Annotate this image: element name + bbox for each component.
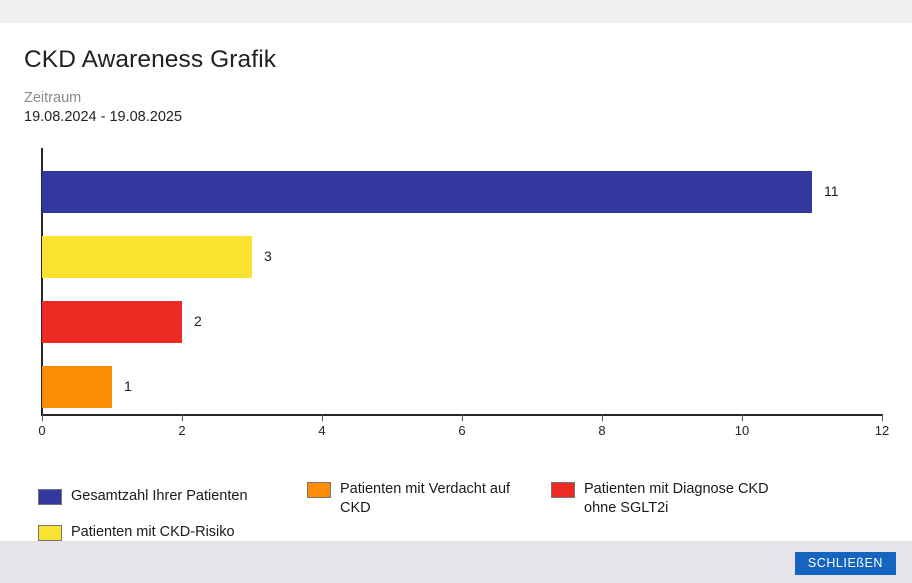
chart-bar[interactable] [42,236,252,278]
legend-swatch-icon [38,489,62,505]
window-top-band [0,0,912,23]
close-button[interactable]: SCHLIEßEN [795,552,896,575]
x-axis-tick [602,414,603,421]
dialog-body: CKD Awareness Grafik Zeitraum 19.08.2024… [0,23,912,541]
x-axis-tick [322,414,323,421]
chart-legend: Gesamtzahl Ihrer PatientenPatienten mit … [0,463,912,541]
chart-bar[interactable] [42,366,112,408]
legend-item-label: Gesamtzahl Ihrer Patienten [71,487,248,506]
legend-item[interactable]: Patienten mit Verdacht auf CKD [307,480,522,518]
chart-bar-segment[interactable] [42,236,252,278]
x-axis-tick [742,414,743,421]
chart-bar-segment[interactable] [42,171,812,213]
bar-value-label: 2 [194,313,202,329]
x-axis-tick-label: 0 [38,423,45,438]
bar-value-label: 3 [264,248,272,264]
legend-item[interactable]: Patienten mit CKD-Risiko [38,523,288,542]
legend-item-label: Patienten mit Diagnose CKD ohne SGLT2i [584,480,801,518]
dialog-footer: SCHLIEßEN [0,541,912,583]
ckd-awareness-dialog: CKD Awareness Grafik Zeitraum 19.08.2024… [0,0,912,583]
chart-bar-segment[interactable] [42,366,112,408]
bar-value-label: 1 [124,378,132,394]
legend-item-label: Patienten mit CKD-Risiko [71,523,235,542]
x-axis-tick [462,414,463,421]
legend-swatch-icon [38,525,62,541]
x-axis-tick [42,414,43,421]
legend-swatch-icon [551,482,575,498]
bar-value-label: 11 [824,183,839,199]
x-axis-tick-label: 10 [735,423,749,438]
x-axis-tick-label: 4 [318,423,325,438]
x-axis-tick [882,414,883,421]
chart-bar[interactable] [42,171,812,213]
x-axis-tick-label: 8 [598,423,605,438]
chart-bar-segment[interactable] [42,301,112,343]
x-axis-tick [182,414,183,421]
legend-item-label: Patienten mit Verdacht auf CKD [340,480,522,518]
legend-swatch-icon [307,482,331,498]
x-axis-tick-label: 6 [458,423,465,438]
chart-bar[interactable] [42,301,182,343]
x-axis-tick-label: 12 [875,423,889,438]
chart-bar-segment[interactable] [112,301,182,343]
x-axis-tick-label: 2 [178,423,185,438]
legend-item[interactable]: Patienten mit Diagnose CKD ohne SGLT2i [551,480,801,518]
legend-item[interactable]: Gesamtzahl Ihrer Patienten [38,487,288,506]
